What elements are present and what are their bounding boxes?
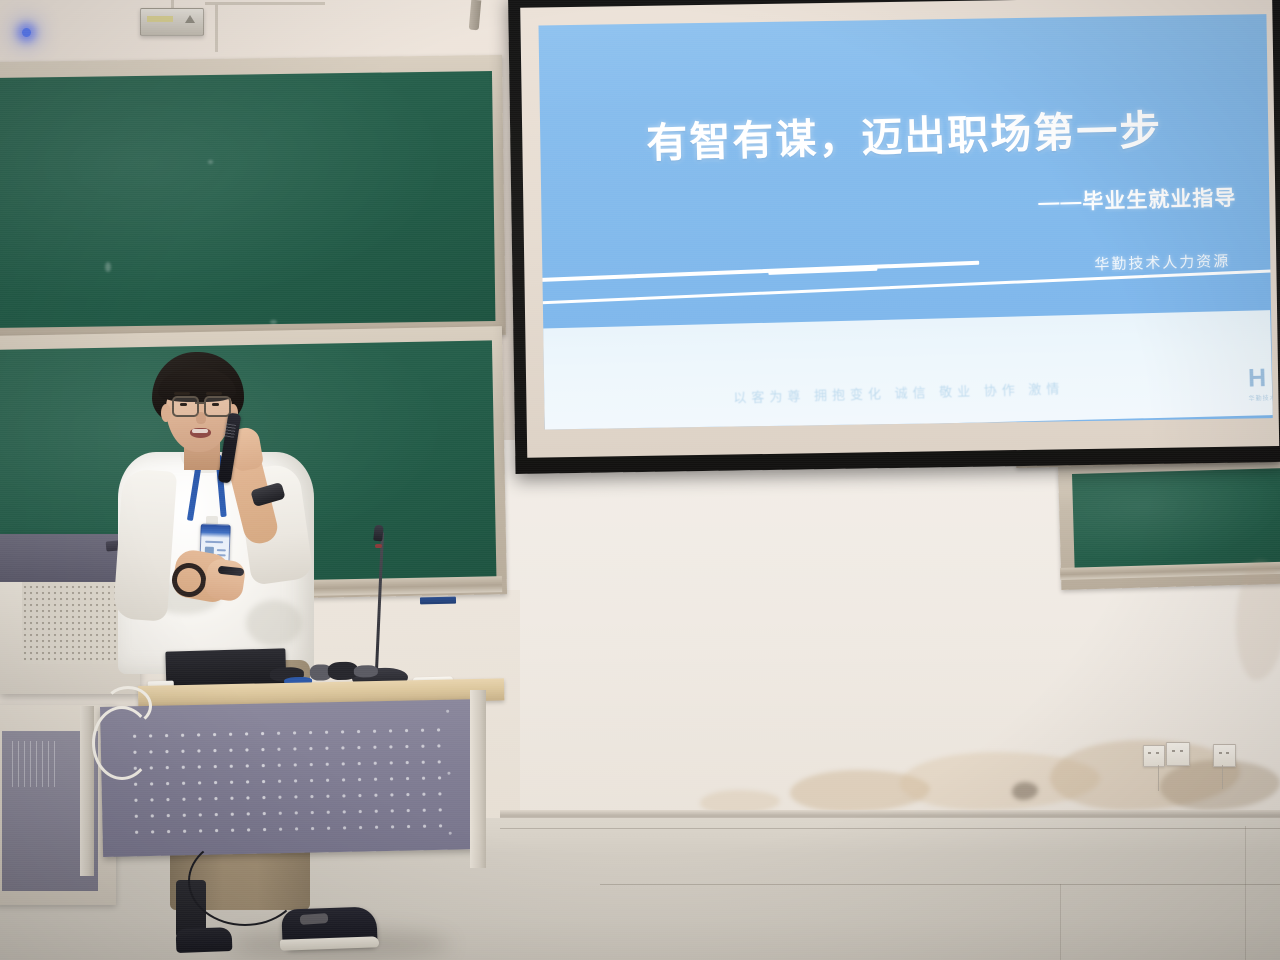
gooseneck-microphone-head xyxy=(373,525,384,542)
panel-screw xyxy=(449,832,452,835)
power-box-label xyxy=(147,16,173,22)
panel-screw xyxy=(447,772,450,775)
eyeglasses-bridge xyxy=(195,402,204,404)
chalk-eraser xyxy=(420,597,456,605)
power-led-indicator xyxy=(22,28,31,37)
presenter-eye-left xyxy=(180,403,187,406)
badge-text-line xyxy=(217,549,226,551)
wall-outlet-1[interactable] xyxy=(1143,745,1165,767)
presenter-eye-right xyxy=(212,403,219,406)
slide-corporate-logo: H 华勤技术 xyxy=(1248,364,1273,403)
outlet-wire xyxy=(1158,765,1159,791)
outlet-wire xyxy=(1222,765,1223,789)
wall-outlet-3[interactable] xyxy=(1213,744,1236,767)
shoe-laces xyxy=(300,913,329,925)
slide-accent-rule-top xyxy=(538,260,979,282)
warning-triangle-icon xyxy=(185,15,195,23)
logo-letter: H xyxy=(1248,364,1266,392)
panel-screw xyxy=(446,710,449,713)
eyeglasses-lens-right xyxy=(204,396,231,417)
monitor-speaker-grill xyxy=(22,578,118,664)
chalk-dust-spot xyxy=(270,320,277,324)
wall-conduit-horizontal xyxy=(205,2,325,5)
outlet-slot xyxy=(1148,752,1151,754)
screen-mat: 有智有谋，迈出职场第一步 ——毕业生就业指导 华勤技术人力资源 以客为尊 拥抱变… xyxy=(520,0,1279,458)
podium-leg-right xyxy=(470,690,486,868)
slide-title: 有智有谋，迈出职场第一步 xyxy=(540,93,1269,171)
shirt-fold xyxy=(246,600,302,646)
floor-tile-seam xyxy=(600,884,1280,885)
podium-modesty-panel xyxy=(100,699,475,857)
floor-tile-seam xyxy=(500,828,1280,829)
floor-cable xyxy=(188,836,302,926)
presenter-left-arm xyxy=(113,468,177,621)
presenter-teeth xyxy=(192,429,208,433)
badge-text-line xyxy=(205,541,223,544)
chalk-dust-spot xyxy=(208,160,213,164)
presenter-brow-left xyxy=(174,392,190,395)
presenter-ear-left xyxy=(161,404,171,422)
projection-screen-frame: 有智有谋，迈出职场第一步 ——毕业生就业指导 华勤技术人力资源 以客为尊 拥抱变… xyxy=(508,0,1280,474)
floor-tile-seam-v xyxy=(1060,884,1061,960)
presenter-nose xyxy=(196,412,206,424)
podium-leg-left xyxy=(80,706,94,876)
wall-conduit-drop xyxy=(215,4,218,52)
cabinet-vents xyxy=(12,741,56,787)
microphone-grille xyxy=(223,423,236,439)
outlet-slot xyxy=(1226,752,1229,754)
slide-bottom-band xyxy=(542,310,1272,429)
presenter-brow-right xyxy=(206,392,222,395)
blackboard-right xyxy=(1072,468,1280,572)
blackboard-left-upper xyxy=(0,71,495,328)
outlet-slot xyxy=(1172,750,1175,752)
wall-outlet-2[interactable] xyxy=(1166,742,1190,766)
logo-subtext: 华勤技术 xyxy=(1248,393,1272,403)
outlet-slot xyxy=(1219,752,1222,754)
chalk-dust-spot xyxy=(105,262,111,272)
presenter-shoe-back xyxy=(176,927,233,953)
wall-peel-patch xyxy=(1236,560,1280,680)
cable-connector xyxy=(354,665,378,678)
presentation-slide: 有智有谋，迈出职场第一步 ——毕业生就业指导 华勤技术人力资源 以客为尊 拥抱变… xyxy=(538,14,1272,429)
slide-accent-rule-dash xyxy=(768,266,877,275)
projector-power-box xyxy=(140,8,204,36)
power-cord-segment xyxy=(104,686,152,726)
outlet-slot xyxy=(1156,752,1159,754)
slide-organization: 华勤技术人力资源 xyxy=(1094,250,1231,274)
floor-tile-seam-v xyxy=(1245,826,1246,960)
slide-subtitle: ——毕业生就业指导 xyxy=(1038,181,1237,216)
eyeglasses-lens-left xyxy=(172,396,199,417)
outlet-slot xyxy=(1180,750,1183,752)
microphone-status-ring xyxy=(375,544,382,548)
classroom-photo: 有智有谋，迈出职场第一步 ——毕业生就业指导 华勤技术人力资源 以客为尊 拥抱变… xyxy=(0,0,1280,960)
